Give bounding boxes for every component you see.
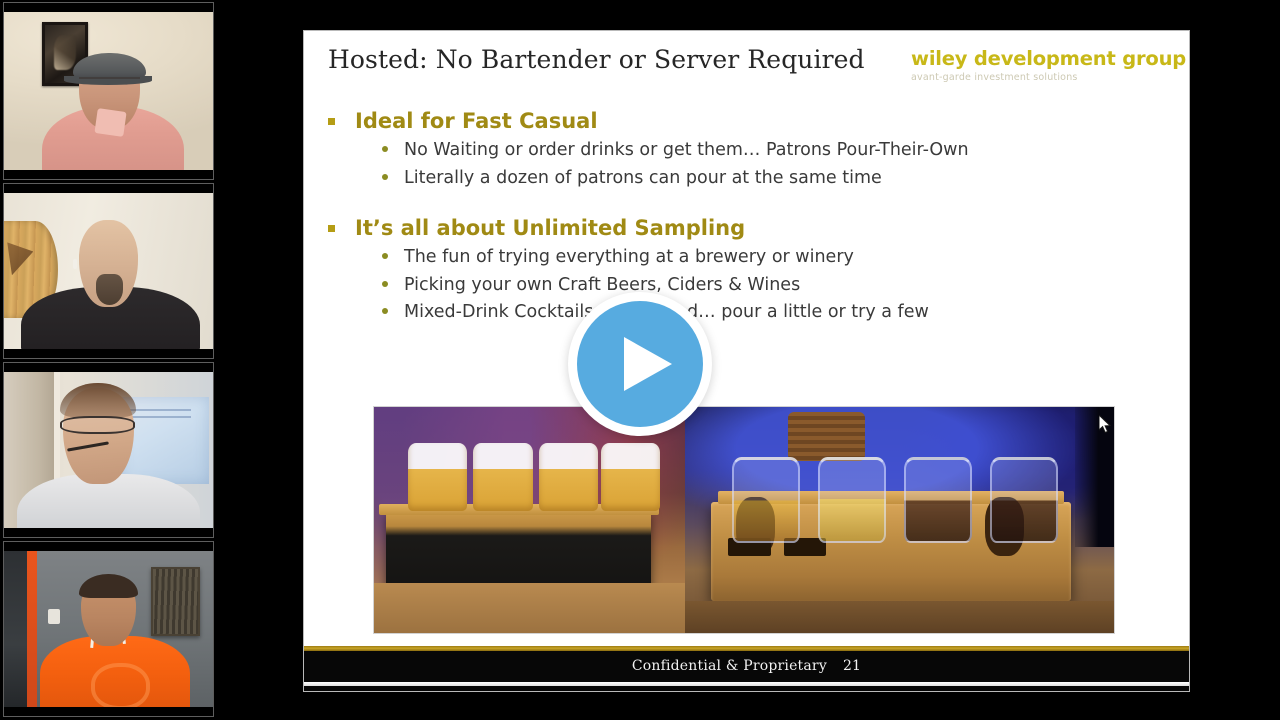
play-triangle-icon (624, 337, 672, 391)
earbud-icon (73, 259, 77, 269)
bullet-group-2-heading: It’s all about Unlimited Sampling (328, 216, 1173, 240)
list-item: No Waiting or order drinks or get them… … (382, 139, 1173, 162)
slide-body: Ideal for Fast Casual No Waiting or orde… (328, 109, 1173, 340)
cocktail-flight-photo (685, 407, 1114, 633)
participant-tile-4[interactable] (3, 541, 214, 717)
list-item-text: No Waiting or order drinks or get them… … (404, 139, 969, 162)
tasting-glass (904, 457, 972, 543)
list-item: The fun of trying everything at a brewer… (382, 246, 1173, 269)
participant-video-2 (4, 193, 213, 349)
dark-edge-vignette (1075, 407, 1114, 547)
beer-glass (601, 443, 660, 511)
list-item: Picking your own Craft Beers, Ciders & W… (382, 274, 1173, 297)
list-item-text: Literally a dozen of patrons can pour at… (404, 167, 882, 190)
eyeglasses (79, 77, 140, 88)
footer-text: Confidential & Proprietary21 (304, 658, 1189, 674)
bullet-group-1: Ideal for Fast Casual No Waiting or orde… (328, 109, 1173, 190)
bar-table-surface (685, 601, 1114, 633)
slide-header: Hosted: No Bartender or Server Required … (304, 31, 1189, 103)
slide-footer: Confidential & Proprietary21 (304, 646, 1189, 691)
participant-video-4 (4, 551, 213, 707)
bullet-group-2: It’s all about Unlimited Sampling The fu… (328, 216, 1173, 324)
dot-bullet-icon (382, 253, 388, 259)
slide-page-number: 21 (843, 658, 861, 674)
participant-3-hair (60, 383, 135, 417)
participant-tile-3[interactable] (3, 362, 214, 538)
barrel-decor (788, 412, 865, 462)
company-logo: wiley development group avant-garde inve… (911, 49, 1169, 83)
eyeglasses (60, 416, 135, 434)
bullet-group-1-heading: Ideal for Fast Casual (328, 109, 1173, 133)
slide-title: Hosted: No Bartender or Server Required (328, 45, 865, 74)
confidentiality-notice: Confidential & Proprietary (632, 658, 827, 674)
beer-glass (408, 443, 467, 511)
dot-bullet-icon (382, 146, 388, 152)
dot-bullet-icon (382, 174, 388, 180)
shirt-collar (94, 108, 126, 137)
bar-table-surface (374, 583, 685, 633)
tasting-glass (818, 457, 886, 543)
participant-filmstrip (0, 0, 217, 720)
square-bullet-icon (328, 118, 335, 125)
participant-tile-2[interactable] (3, 183, 214, 359)
participant-tile-1[interactable] (3, 2, 214, 180)
list-item: Mixed-Drink Cocktails on demand… pour a … (382, 301, 1173, 324)
list-item: Literally a dozen of patrons can pour at… (382, 167, 1173, 190)
square-bullet-icon (328, 225, 335, 232)
tasting-glass (732, 457, 800, 543)
play-button[interactable] (568, 292, 712, 436)
slide-photo-strip (374, 407, 1114, 633)
background-shelf-decor (4, 551, 29, 707)
participant-4-hair (79, 574, 138, 597)
participant-video-1 (4, 12, 213, 170)
presentation-slide: Hosted: No Bartender or Server Required … (303, 30, 1190, 692)
company-logo-name: wiley development group (911, 49, 1169, 69)
company-logo-tagline: avant-garde investment solutions (911, 72, 1169, 83)
orange-post-decor (27, 551, 37, 707)
beer-glass (473, 443, 532, 511)
dot-bullet-icon (382, 308, 388, 314)
bullet-group-2-heading-text: It’s all about Unlimited Sampling (355, 216, 745, 240)
beer-glass (539, 443, 598, 511)
wall-outlet-decor (48, 609, 61, 625)
bullet-group-1-heading-text: Ideal for Fast Casual (355, 109, 598, 133)
footer-base (304, 686, 1189, 691)
dot-bullet-icon (382, 281, 388, 287)
orange-hoodie (40, 636, 190, 707)
video-player-stage: Hosted: No Bartender or Server Required … (0, 0, 1280, 720)
participant-video-3 (4, 372, 213, 528)
tasting-glass (990, 457, 1058, 543)
list-item-text: The fun of trying everything at a brewer… (404, 246, 854, 269)
woven-wall-hanging-decor (151, 567, 201, 637)
footer-band: Confidential & Proprietary21 (304, 651, 1189, 682)
beer-flight-photo (374, 407, 685, 633)
